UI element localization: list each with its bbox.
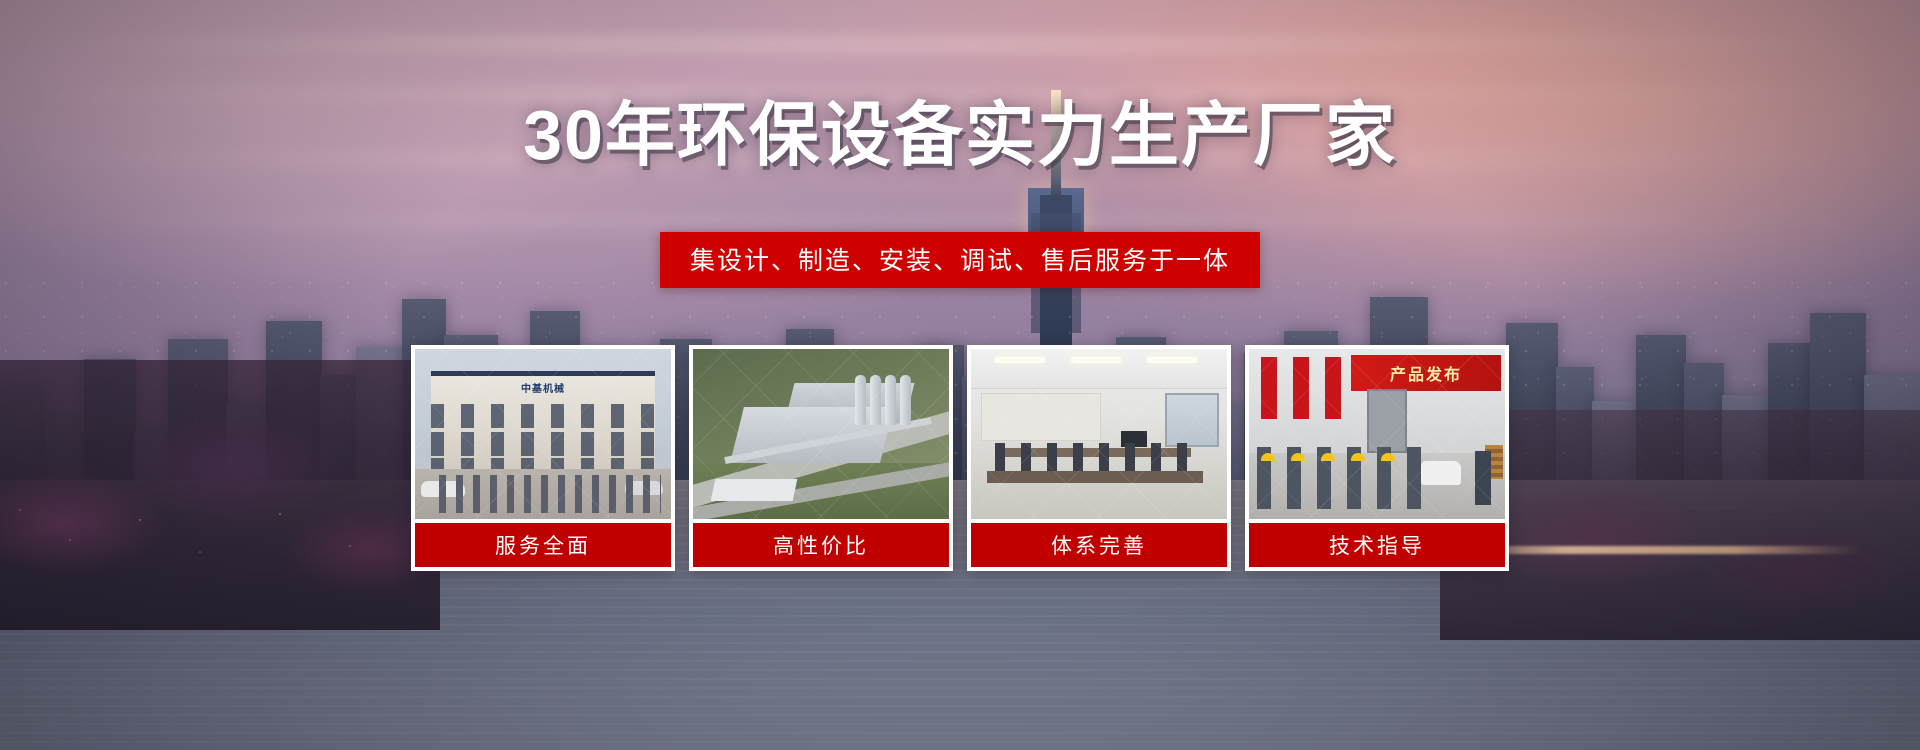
card-label: 技术指导 bbox=[1249, 523, 1505, 567]
card-photo-industrial-plant bbox=[693, 349, 949, 519]
hero-banner: 30年环保设备实力生产厂家 集设计、制造、安装、调试、售后服务于一体 中基机械 bbox=[0, 0, 1920, 750]
subtitle-banner: 集设计、制造、安装、调试、售后服务于一体 bbox=[660, 232, 1260, 288]
building-logo-text: 中基机械 bbox=[521, 380, 565, 395]
feature-card-list: 中基机械 服务全面 bbox=[411, 345, 1509, 571]
card-label: 服务全面 bbox=[415, 523, 671, 567]
card-photo-office-interior bbox=[971, 349, 1227, 519]
workshop-banner-text: 产品发布 bbox=[1351, 355, 1501, 391]
feature-card[interactable]: 产品发布 技术指导 bbox=[1245, 345, 1509, 571]
page-title: 30年环保设备实力生产厂家 bbox=[0, 100, 1920, 170]
card-label: 高性价比 bbox=[693, 523, 949, 567]
feature-card[interactable]: 体系完善 bbox=[967, 345, 1231, 571]
feature-card[interactable]: 中基机械 服务全面 bbox=[411, 345, 675, 571]
card-photo-office-building: 中基机械 bbox=[415, 349, 671, 519]
card-label: 体系完善 bbox=[971, 523, 1227, 567]
feature-card[interactable]: 高性价比 bbox=[689, 345, 953, 571]
card-photo-factory-workshop: 产品发布 bbox=[1249, 349, 1505, 519]
